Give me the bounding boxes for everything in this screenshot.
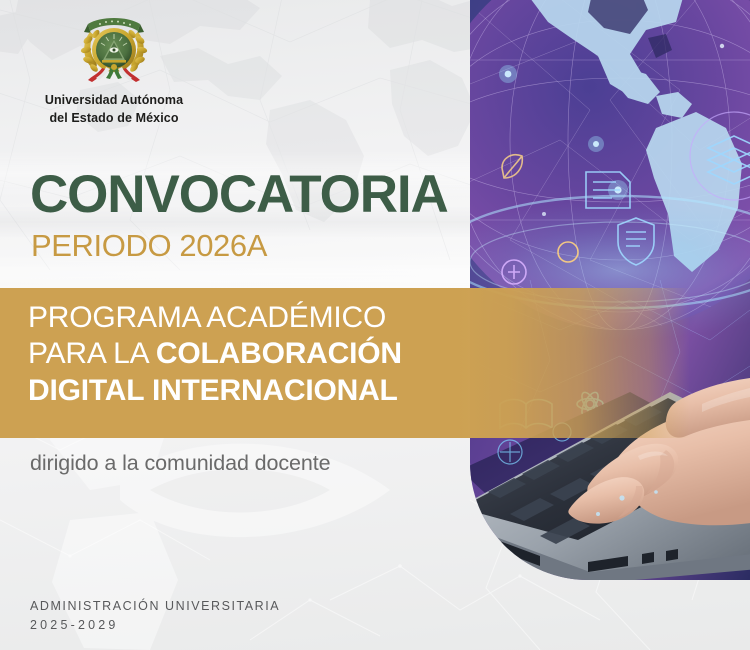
convocatoria-poster: Universidad Autónoma del Estado de Méxic… bbox=[0, 0, 750, 650]
program-title-line-3: DIGITAL INTERNACIONAL bbox=[28, 373, 668, 409]
university-name: Universidad Autónoma del Estado de Méxic… bbox=[14, 92, 214, 128]
program-title-line-2-bold: COLABORACIÓN bbox=[156, 337, 402, 370]
administration-footer: ADMINISTRACIÓN UNIVERSITARIA 2025-2029 bbox=[30, 597, 280, 636]
program-title-line-3-bold: DIGITAL INTERNACIONAL bbox=[28, 374, 398, 407]
program-title-line-1: PROGRAMA ACADÉMICO bbox=[28, 300, 668, 336]
program-title-line-2: PARA LA COLABORACIÓN bbox=[28, 336, 668, 372]
audience-tagline: dirigido a la comunidad docente bbox=[30, 451, 331, 476]
uaem-coat-of-arms-icon bbox=[76, 12, 152, 84]
period-subtitle: PERIODO 2026A bbox=[31, 230, 267, 261]
program-title: PROGRAMA ACADÉMICO PARA LA COLABORACIÓN … bbox=[28, 300, 668, 409]
administration-label: ADMINISTRACIÓN UNIVERSITARIA bbox=[30, 597, 280, 616]
university-logo-block: Universidad Autónoma del Estado de Méxic… bbox=[14, 12, 214, 128]
administration-years: 2025-2029 bbox=[30, 616, 280, 635]
program-title-line-2-regular: PARA LA bbox=[28, 337, 156, 370]
page-title: CONVOCATORIA bbox=[30, 168, 448, 221]
